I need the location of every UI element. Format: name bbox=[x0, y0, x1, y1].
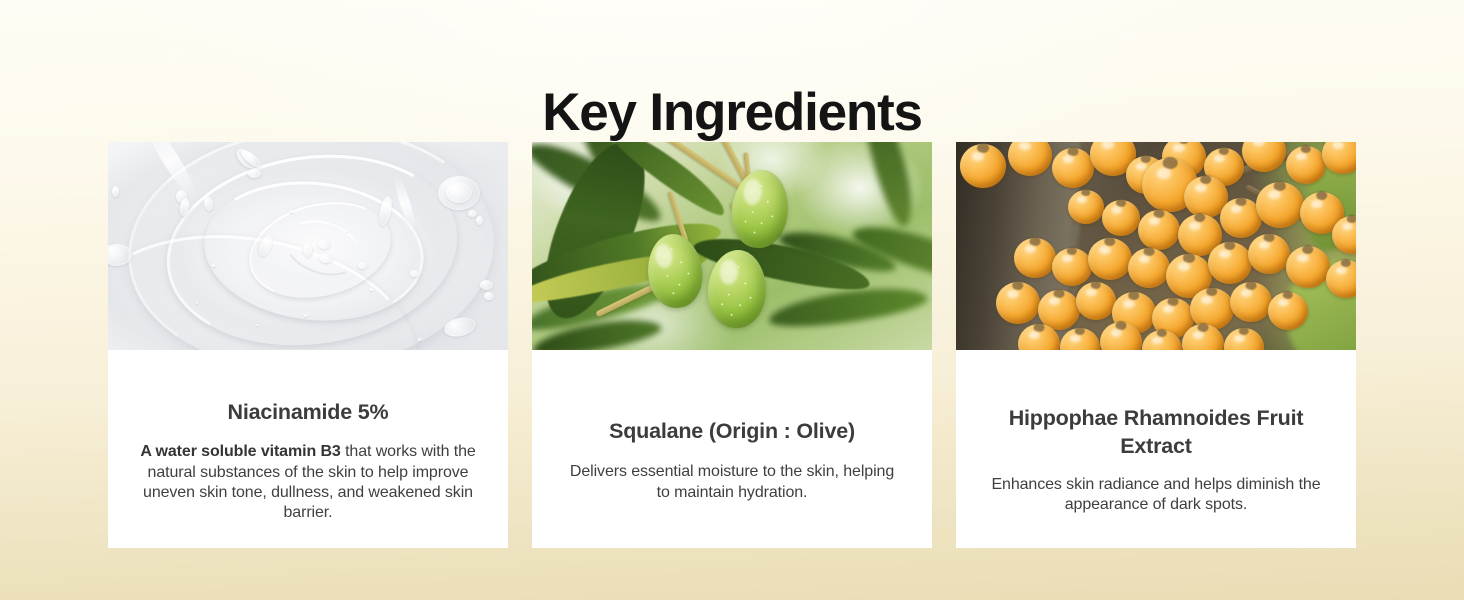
ingredient-card-niacinamide[interactable]: Niacinamide 5% A water soluble vitamin B… bbox=[108, 142, 508, 548]
ingredient-description: A water soluble vitamin B3 that works wi… bbox=[126, 442, 490, 523]
ingredient-card-list: Niacinamide 5% A water soluble vitamin B… bbox=[108, 142, 1356, 548]
page-title: Key Ingredients bbox=[0, 86, 1464, 139]
sea-buckthorn-berries-image bbox=[956, 142, 1356, 350]
ingredient-description-emphasis: A water soluble vitamin B3 bbox=[140, 443, 340, 460]
clear-gel-serum-texture-image bbox=[108, 142, 508, 350]
ingredient-description: Delivers essential moisture to the skin,… bbox=[550, 462, 914, 503]
ingredient-title: Hippophae Rhamnoides Fruit Extract bbox=[974, 404, 1338, 461]
green-olives-on-branch-image bbox=[532, 142, 932, 350]
ingredient-card-squalane[interactable]: Squalane (Origin : Olive) Delivers essen… bbox=[532, 142, 932, 548]
ingredient-title: Squalane (Origin : Olive) bbox=[550, 417, 914, 445]
ingredients-banner: Key Ingredients bbox=[0, 0, 1464, 600]
ingredient-title: Niacinamide 5% bbox=[126, 398, 490, 426]
ingredient-card-hippophae[interactable]: Hippophae Rhamnoides Fruit Extract Enhan… bbox=[956, 142, 1356, 548]
ingredient-description: Enhances skin radiance and helps diminis… bbox=[974, 475, 1338, 516]
